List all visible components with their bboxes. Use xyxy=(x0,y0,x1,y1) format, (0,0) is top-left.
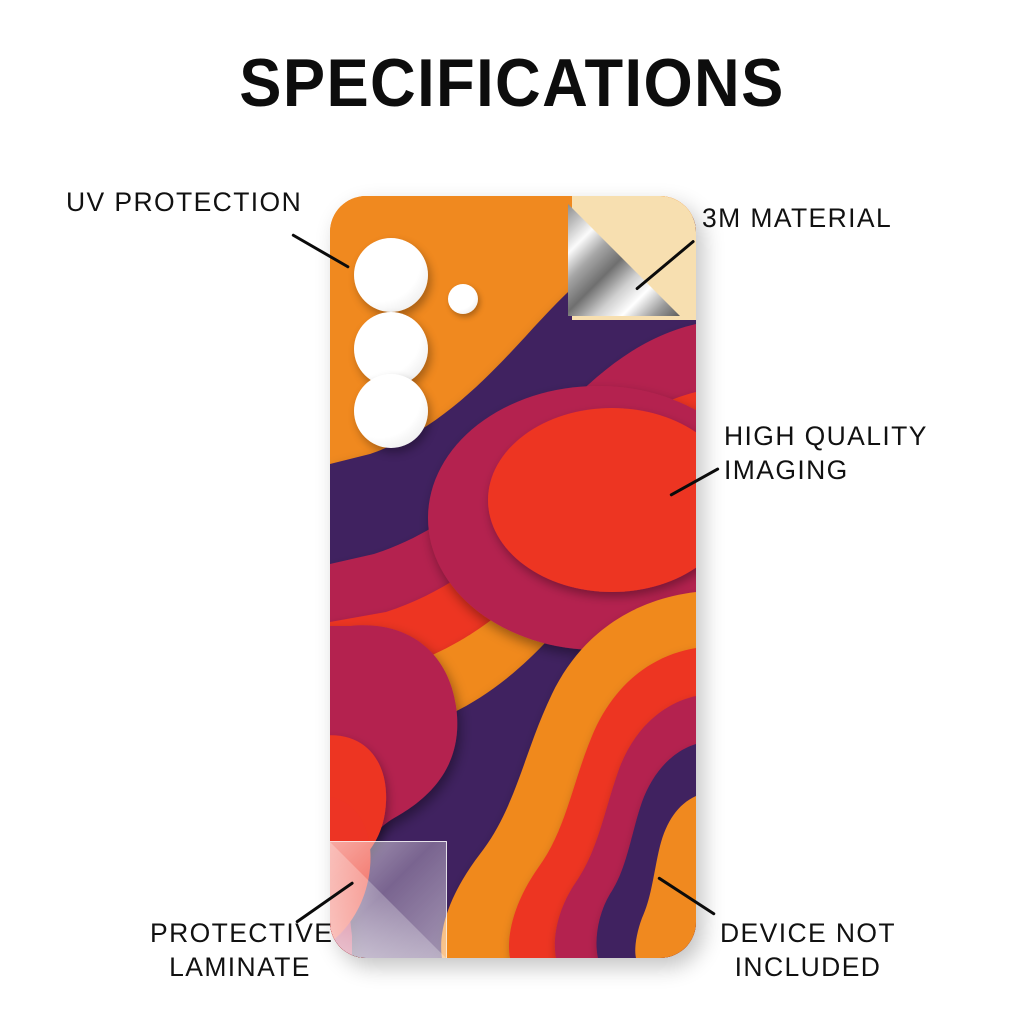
callout-label-device-not-included: DEVICE NOT INCLUDED xyxy=(718,917,898,985)
phone-skin-graphic xyxy=(330,196,696,958)
flash-cutout xyxy=(448,284,478,314)
camera-cutout-3 xyxy=(354,374,428,448)
specifications-infographic: SPECIFICATIONS xyxy=(0,0,1024,1024)
page-title: SPECIFICATIONS xyxy=(36,44,988,122)
callout-label-high-quality-imaging: HIGH QUALITY IMAGING xyxy=(724,420,928,488)
callout-label-protective-laminate: PROTECTIVE LAMINATE xyxy=(150,917,330,985)
callout-label-3m-material: 3M MATERIAL xyxy=(702,202,892,236)
camera-cutout-1 xyxy=(354,238,428,312)
callout-label-uv-protection: UV PROTECTION xyxy=(66,186,302,220)
phone-skin-surface xyxy=(330,196,696,958)
